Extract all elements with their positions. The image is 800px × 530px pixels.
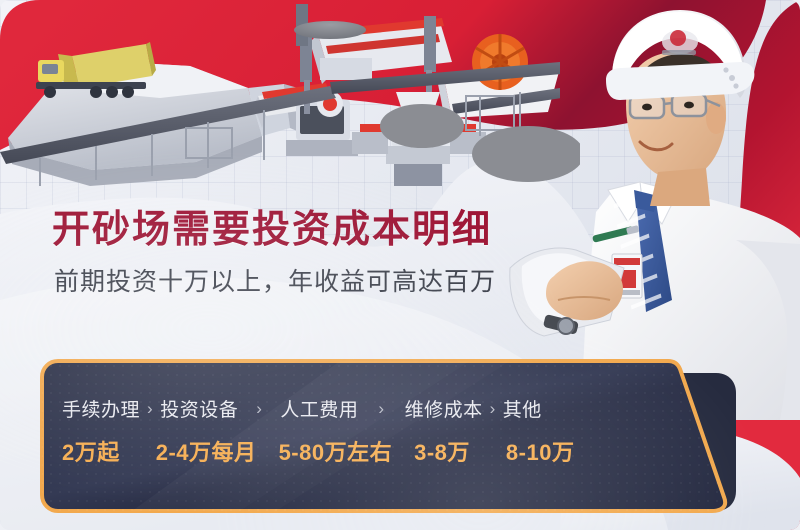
page-subtitle: 前期投资十万以上，年收益可高达百万	[54, 262, 496, 298]
chevron-right-icon-0: ›	[147, 399, 153, 419]
step-value-2: 5-80万左右	[279, 435, 393, 467]
step-value-3: 3-8万	[414, 435, 470, 467]
step-label-1: 投资设备	[160, 395, 238, 422]
chevron-right-icon-2: ›	[378, 399, 384, 419]
cost-breakdown-panel: 手续办理 › 投资设备 › 人工费用 › 维修成本 › 其他 2万起 2-4万每…	[40, 355, 760, 515]
step-value-0: 2万起	[62, 435, 120, 467]
step-label-3: 维修成本	[405, 395, 483, 422]
chevron-right-icon-1: ›	[256, 399, 262, 419]
step-label-0: 手续办理	[62, 395, 140, 422]
step-label-4: 其他	[503, 395, 542, 422]
step-value-1: 2-4万每月	[156, 435, 257, 467]
promo-banner: 开砂场需要投资成本明细 前期投资十万以上，年收益可高达百万	[0, 0, 800, 530]
hard-hat	[606, 10, 754, 100]
cost-step-labels: 手续办理 › 投资设备 › 人工费用 › 维修成本 › 其他	[62, 395, 712, 422]
step-value-4: 8-10万	[506, 435, 575, 467]
chevron-right-icon-3: ›	[490, 399, 496, 419]
cost-step-values: 2万起 2-4万每月 5-80万左右 3-8万 8-10万	[62, 435, 712, 467]
page-title: 开砂场需要投资成本明细	[52, 198, 492, 253]
step-label-2: 人工费用	[280, 395, 358, 422]
